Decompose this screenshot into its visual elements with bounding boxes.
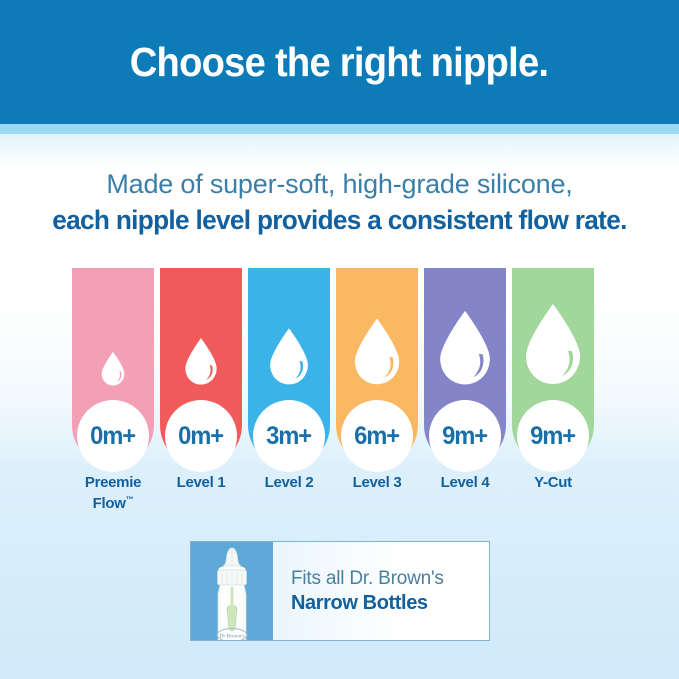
card-body: 0m+ — [160, 268, 242, 466]
subtitle-line-2: each nipple level provides a consistent … — [10, 202, 669, 238]
age-badge: 9m+ — [517, 400, 589, 472]
card-label-line-1: Y-Cut — [534, 474, 572, 491]
baby-bottle-icon: Dr Brown's — [191, 542, 273, 640]
age-badge: 6m+ — [341, 400, 413, 472]
nipple-card-level-3[interactable]: 6m+Level 3 — [336, 268, 418, 508]
callout-line-1: Fits all Dr. Brown's — [291, 566, 489, 591]
trademark-symbol: ™ — [126, 495, 134, 504]
nipple-card-level-1[interactable]: 0m+Level 1 — [160, 268, 242, 508]
card-label: Level 1 — [152, 474, 250, 491]
nipple-card-preemie-flow[interactable]: 0m+PreemieFlow™ — [72, 268, 154, 508]
card-label-line-1: Level 2 — [265, 474, 314, 491]
bottle-photo: Dr Brown's — [191, 542, 273, 640]
infographic-poster: Choose the right nipple. Made of super-s… — [0, 0, 679, 679]
nipple-card-y-cut[interactable]: 9m+Y-Cut — [512, 268, 594, 508]
card-body: 9m+ — [424, 268, 506, 466]
age-label: 0m+ — [91, 422, 136, 451]
age-badge: 9m+ — [429, 400, 501, 472]
card-label-line-1: Level 3 — [353, 474, 402, 491]
age-badge: 0m+ — [165, 400, 237, 472]
callout-line-2: Narrow Bottles — [291, 591, 489, 616]
card-body: 3m+ — [248, 268, 330, 466]
water-drop-icon — [352, 317, 403, 386]
nipple-card-level-4[interactable]: 9m+Level 4 — [424, 268, 506, 508]
card-body: 0m+ — [72, 268, 154, 466]
card-label: Level 2 — [240, 474, 338, 491]
age-badge: 0m+ — [77, 400, 149, 472]
header-banner: Choose the right nipple. — [0, 0, 679, 124]
callout-text-block: Fits all Dr. Brown's Narrow Bottles — [273, 542, 489, 640]
water-drop-icon — [267, 327, 310, 386]
subtitle-line-1: Made of super-soft, high-grade silicone, — [0, 166, 679, 202]
header-fade — [0, 134, 679, 168]
card-label-line-1: Level 4 — [441, 474, 490, 491]
age-label: 0m+ — [179, 422, 224, 451]
card-label-line-1: Preemie — [85, 474, 141, 491]
water-drop-icon — [183, 337, 219, 386]
subtitle-block: Made of super-soft, high-grade silicone,… — [0, 166, 679, 238]
card-body: 6m+ — [336, 268, 418, 466]
card-body: 9m+ — [512, 268, 594, 466]
card-label-line-1: Level 1 — [177, 474, 226, 491]
card-label-line-2: Flow — [93, 495, 126, 512]
age-label: 9m+ — [443, 422, 488, 451]
nipple-card-level-2[interactable]: 3m+Level 2 — [248, 268, 330, 508]
card-label: Level 4 — [416, 474, 514, 491]
water-drop-icon — [100, 351, 126, 386]
card-label: Level 3 — [328, 474, 426, 491]
bottle-brand-text: Dr Brown's — [219, 634, 244, 640]
age-badge: 3m+ — [253, 400, 325, 472]
water-drop-icon — [522, 302, 584, 386]
water-drop-icon — [436, 309, 493, 386]
card-label: Y-Cut — [504, 474, 602, 491]
header-accent-stripe — [0, 124, 679, 134]
age-label: 6m+ — [355, 422, 400, 451]
page-title: Choose the right nipple. — [130, 39, 549, 86]
nipple-level-cards: 0m+PreemieFlow™0m+Level 13m+Level 26m+Le… — [72, 268, 608, 508]
age-label: 9m+ — [531, 422, 576, 451]
bottle-compatibility-callout: Dr Brown's Fits all Dr. Brown's Narrow B… — [190, 541, 490, 641]
age-label: 3m+ — [267, 422, 312, 451]
card-label: PreemieFlow™ — [64, 474, 162, 512]
